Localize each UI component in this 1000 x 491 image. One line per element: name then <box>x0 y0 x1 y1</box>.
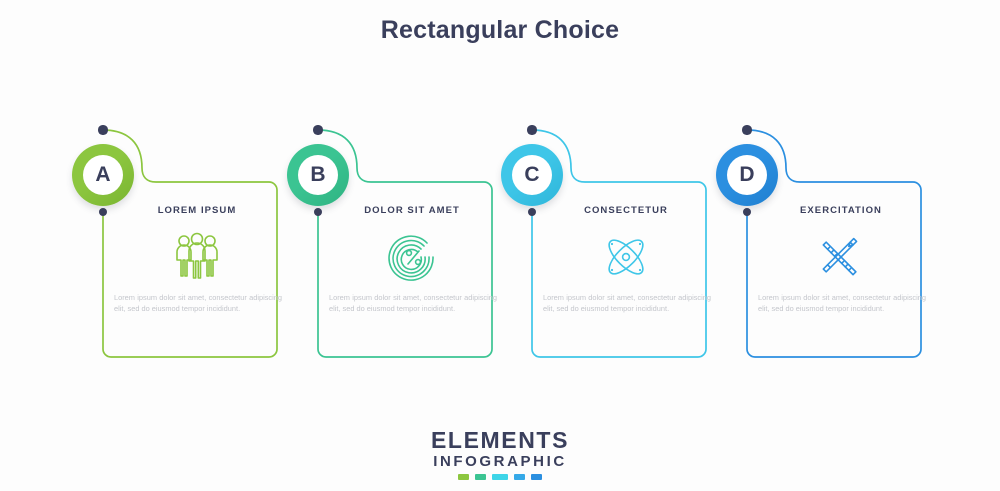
badge-letter: D <box>727 155 767 195</box>
card-body-text: Lorem ipsum dolor sit amet, consectetur … <box>114 292 282 314</box>
footer-dash <box>492 474 508 480</box>
footer-dash <box>514 474 525 480</box>
badge-letter: B <box>298 155 338 195</box>
footer-brand-secondary: INFOGRAPHIC <box>0 453 1000 470</box>
card-heading: EXERCITATION <box>752 205 930 216</box>
connector-dot-top <box>313 125 322 134</box>
card-c[interactable]: CCONSECTETURLorem ipsum dolor sit amet, … <box>501 120 721 365</box>
step-badge-d[interactable]: D <box>716 144 778 206</box>
step-badge-a[interactable]: A <box>72 144 134 206</box>
infographic-canvas: Rectangular Choice ALOREM IPSUMLorem ips… <box>0 0 1000 491</box>
people-group-icon <box>108 228 286 286</box>
footer-dash <box>531 474 542 480</box>
card-body-text: Lorem ipsum dolor sit amet, consectetur … <box>329 292 497 314</box>
card-heading: DOLOR SIT AMET <box>323 205 501 216</box>
badge-letter: A <box>83 155 123 195</box>
card-heading: LOREM IPSUM <box>108 205 286 216</box>
footer: ELEMENTS INFOGRAPHIC <box>0 428 1000 480</box>
step-badge-b[interactable]: B <box>287 144 349 206</box>
card-a[interactable]: ALOREM IPSUMLorem ipsum dolor sit amet, … <box>72 120 292 365</box>
footer-dash <box>458 474 469 480</box>
footer-dash-row <box>0 474 1000 480</box>
card-b[interactable]: BDOLOR SIT AMETLorem ipsum dolor sit ame… <box>287 120 507 365</box>
connector-dot-top <box>742 125 751 134</box>
connector-dot-top <box>527 125 536 134</box>
atom-icon <box>537 228 715 286</box>
step-badge-c[interactable]: C <box>501 144 563 206</box>
card-heading: CONSECTETUR <box>537 205 715 216</box>
percent-circle-icon <box>323 228 501 286</box>
badge-letter: C <box>512 155 552 195</box>
footer-brand-primary: ELEMENTS <box>0 428 1000 453</box>
card-d[interactable]: DEXERCITATIONLorem ipsum dolor sit amet,… <box>716 120 936 365</box>
page-title: Rectangular Choice <box>0 16 1000 45</box>
card-body-text: Lorem ipsum dolor sit amet, consectetur … <box>758 292 926 314</box>
card-body-text: Lorem ipsum dolor sit amet, consectetur … <box>543 292 711 314</box>
connector-dot-top <box>98 125 107 134</box>
pencil-ruler-icon <box>752 228 930 286</box>
footer-dash <box>475 474 486 480</box>
